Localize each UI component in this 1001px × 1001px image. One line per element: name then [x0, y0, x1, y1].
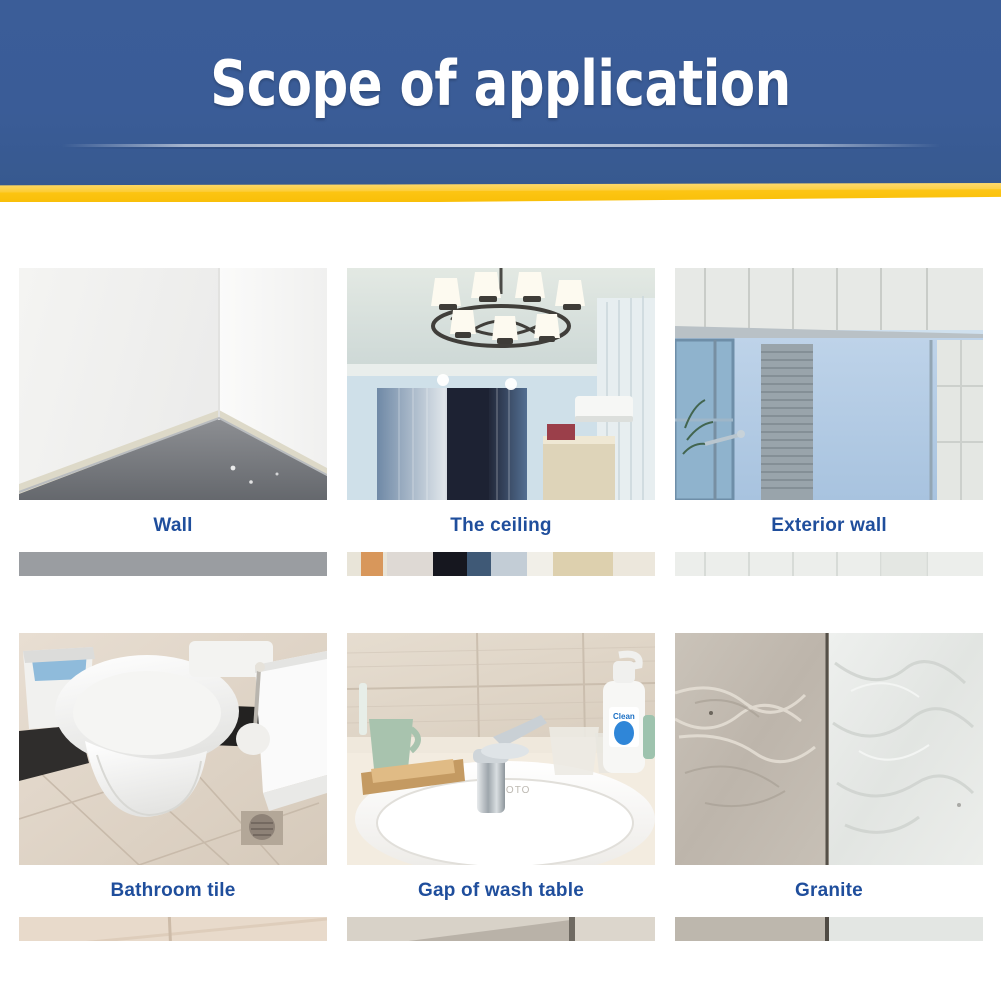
photo-strip-wall: [19, 552, 327, 576]
photo-strip-bathroom-tile: [19, 917, 327, 941]
scope-cell-caption: Bathroom tile: [19, 865, 327, 917]
scope-of-application-page: Scope of application: [0, 0, 1001, 1001]
scope-cell-wash-table[interactable]: TOTO: [347, 633, 655, 941]
photo-bathroom-toilet: [19, 633, 327, 865]
scope-cell-granite[interactable]: Granite: [675, 633, 983, 941]
wall-strip-illustration: [19, 552, 327, 576]
photo-strip-ceiling: [347, 552, 655, 576]
bathroom-toilet-illustration: [19, 633, 327, 865]
ceiling-strip-illustration: [347, 552, 655, 576]
scope-cell-caption: Gap of wash table: [347, 865, 655, 917]
wall-corner-illustration: [19, 268, 327, 500]
granite-strip-illustration: [675, 917, 983, 941]
photo-strip-exterior-wall: [675, 552, 983, 576]
photo-ceiling-chandelier: [347, 268, 655, 500]
banner-divider-shadow: [62, 147, 940, 149]
scope-cell-caption: Exterior wall: [675, 500, 983, 552]
banner-accent-stripe: [0, 182, 1001, 202]
scope-cell-ceiling[interactable]: The ceiling: [347, 268, 655, 576]
photo-washbasin: TOTO: [347, 633, 655, 865]
exterior-facade-illustration: [675, 268, 983, 500]
scope-cell-caption: The ceiling: [347, 500, 655, 552]
scope-cell-wall[interactable]: Wall: [19, 268, 327, 576]
exterior-strip-illustration: [675, 552, 983, 576]
photo-wall-corner: [19, 268, 327, 500]
scope-cell-caption: Wall: [19, 500, 327, 552]
photo-strip-wash-table: [347, 917, 655, 941]
photo-granite-slabs: [675, 633, 983, 865]
wash-table-strip-illustration: [347, 917, 655, 941]
scope-grid-row-1: Wall: [19, 268, 983, 576]
photo-strip-granite: [675, 917, 983, 941]
svg-text:Clean: Clean: [613, 712, 635, 721]
page-banner: Scope of application: [0, 0, 1001, 202]
photo-exterior-facade: [675, 268, 983, 500]
bathroom-tile-strip-illustration: [19, 917, 327, 941]
washbasin-illustration: TOTO: [347, 633, 655, 865]
page-title: Scope of application: [40, 49, 961, 119]
ceiling-chandelier-illustration: [347, 268, 655, 500]
scope-grid-row-2: Bathroom tile: [19, 633, 983, 941]
scope-cell-bathroom-tile[interactable]: Bathroom tile: [19, 633, 327, 941]
granite-slabs-illustration: [675, 633, 983, 865]
scope-cell-caption: Granite: [675, 865, 983, 917]
scope-cell-exterior-wall[interactable]: Exterior wall: [675, 268, 983, 576]
